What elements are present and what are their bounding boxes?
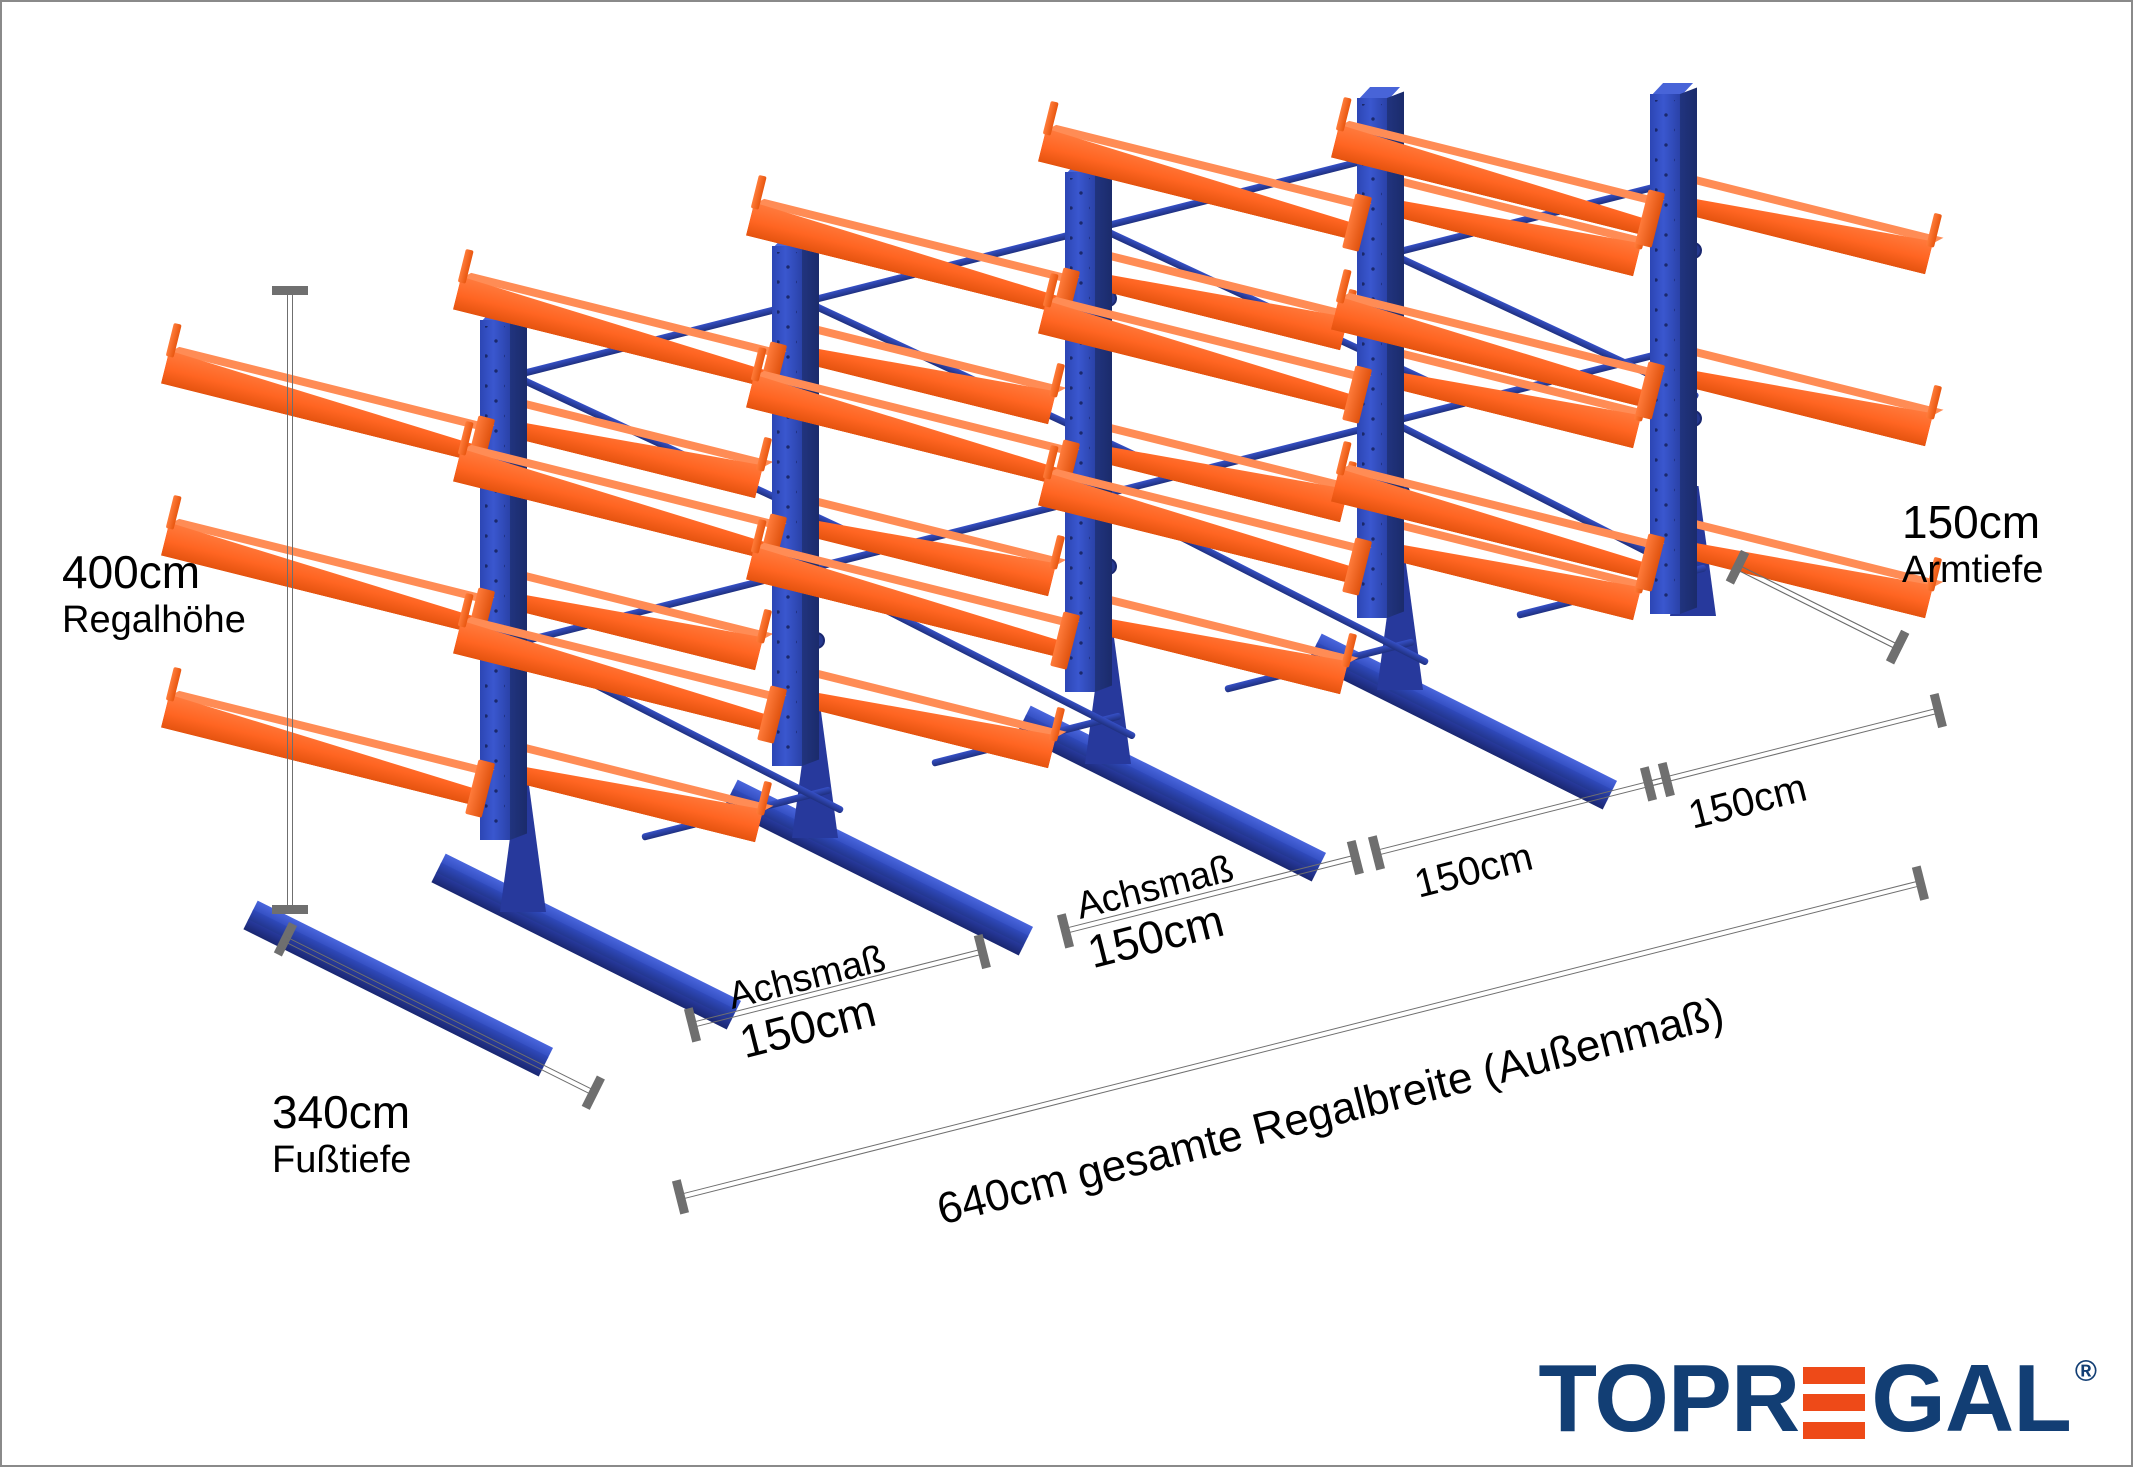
arm-depth-label: 150cm Armtiefe: [1902, 497, 2043, 591]
foot-depth-caption: Fußtiefe: [272, 1139, 411, 1182]
cantilever-rack-illustration: [2, 2, 2133, 1467]
height-dimension-line: [285, 290, 295, 910]
height-label: 400cm Regalhöhe: [62, 547, 246, 641]
e-bars-icon: [1803, 1367, 1865, 1439]
product-diagram-page: 400cm Regalhöhe 340cm Fußtiefe 150cm Arm…: [0, 0, 2133, 1467]
registered-trademark-symbol: ®: [2075, 1355, 2097, 1389]
cantilever-arm: [1673, 351, 1934, 447]
cantilever-arm: [796, 673, 1057, 769]
logo-text-part2: GAL: [1871, 1355, 2071, 1443]
cantilever-arm: [161, 351, 485, 463]
cantilever-arm: [1673, 179, 1934, 275]
height-value: 400cm: [62, 547, 246, 599]
arm-depth-caption: Armtiefe: [1902, 549, 2043, 592]
cantilever-arm: [503, 747, 764, 843]
height-caption: Regalhöhe: [62, 599, 246, 642]
base-foot: [432, 854, 741, 1028]
foot-depth-label: 340cm Fußtiefe: [272, 1087, 411, 1181]
cantilever-arm: [161, 695, 485, 807]
logo-text-part1: TOPR: [1538, 1355, 1799, 1443]
cantilever-arm: [1088, 599, 1349, 695]
arm-depth-value: 150cm: [1902, 497, 2043, 549]
foot-depth-value: 340cm: [272, 1087, 411, 1139]
topregal-logo: TOPR GAL ®: [1538, 1355, 2097, 1443]
